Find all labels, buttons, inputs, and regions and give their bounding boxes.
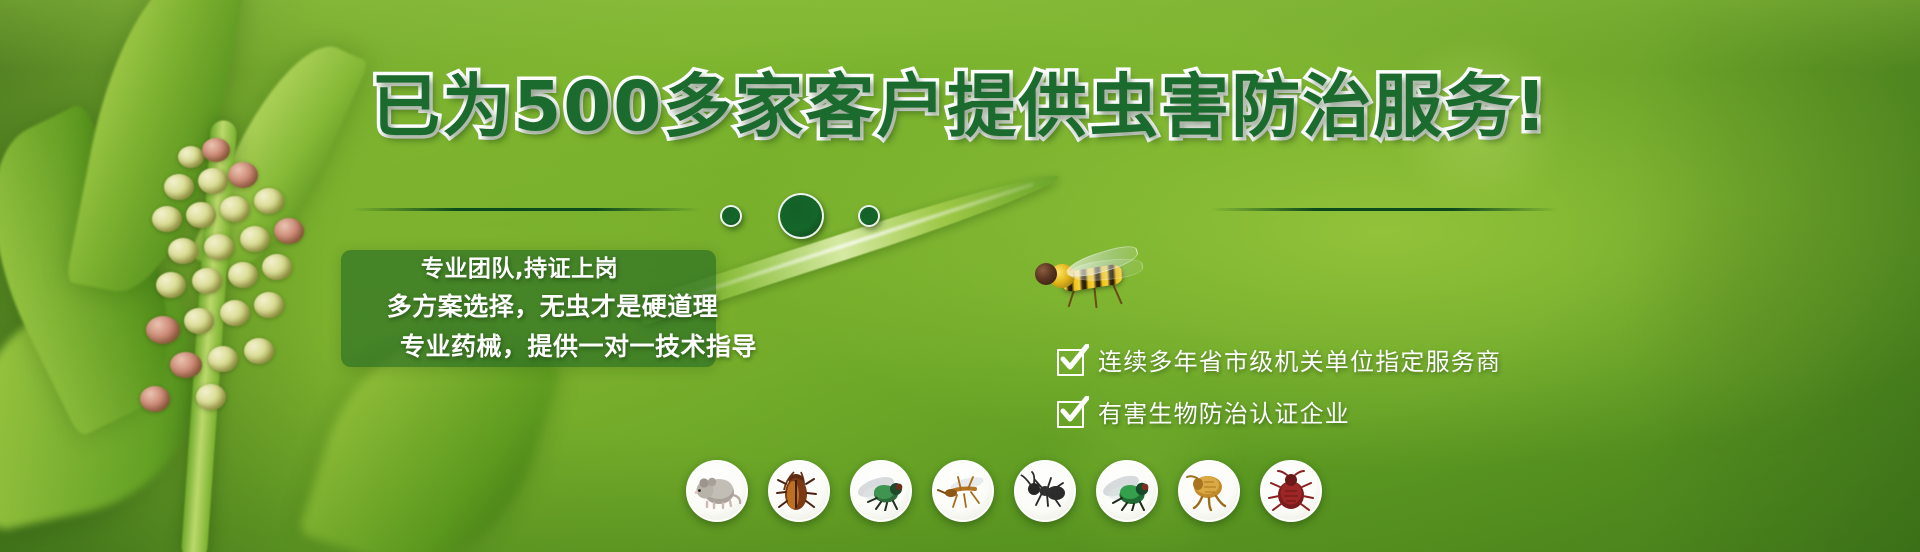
checkbox-checked-icon <box>1057 401 1084 428</box>
slogan-line-3: 专业药械，提供一对一技术指导 <box>400 328 757 366</box>
pest-icon-row <box>686 460 1322 522</box>
flea-icon <box>1178 460 1240 522</box>
headline-text: 已为500多家客户提供虫害防治服务! <box>371 67 1549 147</box>
slogan-panel-text: 专业团队,持证上岗 多方案选择，无虫才是硬道理 专业药械，提供一对一技术指导 <box>341 250 716 367</box>
hoverfly-icon <box>1035 248 1155 306</box>
checkbox-checked-icon <box>1057 349 1084 376</box>
mouse-icon <box>686 460 748 522</box>
divider-rule-right <box>1210 208 1558 211</box>
housefly-icon <box>850 460 912 522</box>
large-dot-center <box>778 193 824 239</box>
slogan-line-2: 多方案选择，无虫才是硬道理 <box>387 288 719 326</box>
list-item: 连续多年省市级机关单位指定服务商 <box>1057 336 1501 388</box>
cockroach-icon <box>768 460 830 522</box>
headline: 已为500多家客户提供虫害防治服务! <box>0 73 1920 142</box>
credential-label: 有害生物防治认证企业 <box>1098 401 1350 427</box>
credentials-list: 连续多年省市级机关单位指定服务商 有害生物防治认证企业 <box>1057 336 1501 440</box>
greenfly-icon <box>1096 460 1158 522</box>
ant-icon <box>1014 460 1076 522</box>
list-item: 有害生物防治认证企业 <box>1057 388 1501 440</box>
small-dot-left <box>720 205 742 227</box>
divider-dots <box>700 190 1210 242</box>
bedbug-icon <box>1260 460 1322 522</box>
credential-label: 连续多年省市级机关单位指定服务商 <box>1098 349 1501 375</box>
flower-buds <box>150 140 360 420</box>
small-dot-right <box>858 205 880 227</box>
divider-rule-left <box>352 208 700 211</box>
slogan-line-1: 专业团队,持证上岗 <box>421 252 618 286</box>
mosquito-icon <box>932 460 994 522</box>
promo-banner: 已为500多家客户提供虫害防治服务! 专业团队,持证上岗 多方案选择，无虫才是硬… <box>0 0 1920 552</box>
